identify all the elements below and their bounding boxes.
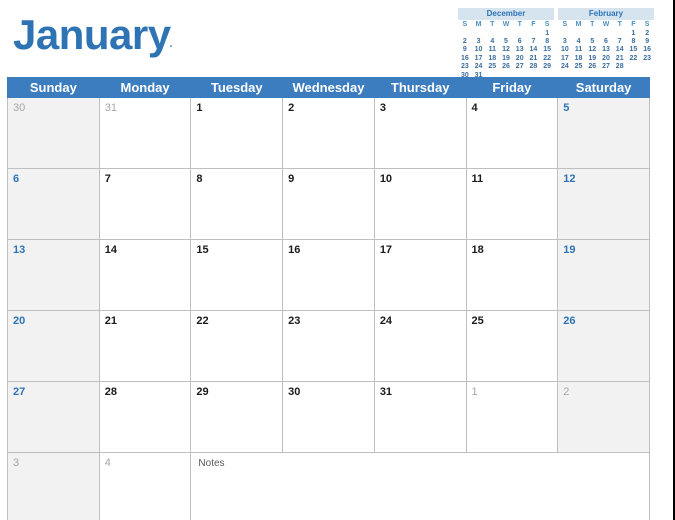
- mini-day-8[interactable]: 8: [540, 38, 554, 46]
- mini-day-10[interactable]: 10: [558, 46, 572, 54]
- day-number: 13: [8, 240, 99, 256]
- day-cell[interactable]: 2: [283, 98, 375, 169]
- mini-day-22[interactable]: 22: [540, 55, 554, 63]
- day-number: 25: [467, 311, 558, 327]
- mini-day-6[interactable]: 6: [599, 38, 613, 46]
- mini-day-14[interactable]: 14: [527, 46, 541, 54]
- day-number: 22: [191, 311, 282, 327]
- mini-day-27[interactable]: 27: [599, 63, 613, 71]
- day-cell[interactable]: 3: [374, 98, 466, 169]
- day-cell[interactable]: 7: [99, 169, 191, 240]
- mini-dow-3: W: [499, 21, 513, 30]
- day-number: 3: [375, 98, 466, 114]
- day-cell[interactable]: 31: [99, 98, 191, 169]
- mini-day-28[interactable]: 28: [613, 63, 627, 71]
- day-cell[interactable]: 31: [374, 382, 466, 453]
- mini-day-3[interactable]: 3: [558, 38, 572, 46]
- mini-day-20[interactable]: 20: [513, 55, 527, 63]
- mini-day-1[interactable]: 1: [627, 30, 641, 38]
- mini-day-12[interactable]: 12: [585, 46, 599, 54]
- mini-day-4[interactable]: 4: [572, 38, 586, 46]
- mini-day-21[interactable]: 21: [527, 55, 541, 63]
- mini-day-24[interactable]: 24: [472, 63, 486, 71]
- mini-day-8[interactable]: 8: [627, 38, 641, 46]
- day-cell[interactable]: 15: [191, 240, 283, 311]
- day-cell[interactable]: 6: [8, 169, 100, 240]
- week-row: 272829303112: [8, 382, 650, 453]
- mini-calendar-next-month: February SMTWTFS .....123456789101112131…: [558, 8, 654, 80]
- day-number: 2: [558, 382, 649, 398]
- day-cell[interactable]: 8: [191, 169, 283, 240]
- mini-day-15[interactable]: 15: [627, 46, 641, 54]
- week-row: 6789101112: [8, 169, 650, 240]
- month-grid-body: 3031123456789101112131415161718192021222…: [8, 98, 650, 520]
- day-number: 15: [191, 240, 282, 256]
- day-cell[interactable]: 26: [558, 311, 650, 382]
- mini-calendar-prev-month: December SMTWTFS ......12345678910111213…: [458, 8, 554, 80]
- mini-day-2[interactable]: 2: [458, 38, 472, 46]
- day-number: 30: [283, 382, 374, 398]
- mini-day-25[interactable]: 25: [572, 63, 586, 71]
- day-number: 26: [558, 311, 649, 327]
- day-cell[interactable]: 10: [374, 169, 466, 240]
- calendar-page: January December SMTWTFS ......123456789…: [0, 0, 675, 520]
- day-number: 11: [467, 169, 558, 185]
- mini-calendar-day-grid: ......1234567891011121314151617181920212…: [458, 30, 554, 80]
- weekday-header-wednesday: Wednesday: [283, 78, 375, 98]
- mini-day-13[interactable]: 13: [599, 46, 613, 54]
- day-cell[interactable]: 27: [8, 382, 100, 453]
- day-cell[interactable]: 2: [558, 382, 650, 453]
- day-cell[interactable]: 11: [466, 169, 558, 240]
- day-cell[interactable]: 30: [8, 98, 100, 169]
- mini-dow-5: F: [627, 21, 641, 30]
- day-cell[interactable]: 1: [191, 98, 283, 169]
- mini-day-14[interactable]: 14: [613, 46, 627, 54]
- day-cell[interactable]: 23: [283, 311, 375, 382]
- mini-calendar-dow-row: SMTWTFS: [458, 20, 554, 30]
- day-number: 3: [8, 453, 99, 469]
- mini-calendars: December SMTWTFS ......12345678910111213…: [458, 8, 654, 80]
- day-number: 28: [100, 382, 191, 398]
- day-cell[interactable]: 30: [283, 382, 375, 453]
- day-number: 6: [8, 169, 99, 185]
- weekday-header-monday: Monday: [99, 78, 191, 98]
- day-number: 18: [467, 240, 558, 256]
- day-number: 2: [283, 98, 374, 114]
- mini-day-22[interactable]: 22: [627, 55, 641, 63]
- day-number: 9: [283, 169, 374, 185]
- notes-label: Notes: [191, 453, 649, 470]
- mini-dow-1: M: [572, 21, 586, 30]
- day-number: 16: [283, 240, 374, 256]
- mini-day-10[interactable]: 10: [472, 46, 486, 54]
- mini-day-11[interactable]: 11: [485, 46, 499, 54]
- day-cell[interactable]: 13: [8, 240, 100, 311]
- day-number: 30: [8, 98, 99, 114]
- month-grid: SundayMondayTuesdayWednesdayThursdayFrid…: [7, 77, 650, 520]
- day-number: 21: [100, 311, 191, 327]
- mini-dow-4: T: [513, 21, 527, 30]
- week-row: 20212223242526: [8, 311, 650, 382]
- mini-day-17[interactable]: 17: [472, 55, 486, 63]
- mini-day-26[interactable]: 26: [585, 63, 599, 71]
- day-number: 27: [8, 382, 99, 398]
- mini-day-25[interactable]: 25: [485, 63, 499, 71]
- day-cell[interactable]: 25: [466, 311, 558, 382]
- mini-day-12[interactable]: 12: [499, 46, 513, 54]
- day-number: 7: [100, 169, 191, 185]
- mini-day-23[interactable]: 23: [458, 63, 472, 71]
- mini-day-9[interactable]: 9: [458, 46, 472, 54]
- day-cell[interactable]: 18: [466, 240, 558, 311]
- day-cell[interactable]: 9: [283, 169, 375, 240]
- mini-day-18[interactable]: 18: [485, 55, 499, 63]
- mini-calendar-title: December: [458, 8, 554, 20]
- weekday-header-thursday: Thursday: [374, 78, 466, 98]
- mini-dow-1: M: [472, 21, 486, 30]
- day-cell[interactable]: 17: [374, 240, 466, 311]
- day-cell[interactable]: 20: [8, 311, 100, 382]
- day-cell[interactable]: 29: [191, 382, 283, 453]
- day-number: 4: [467, 98, 558, 114]
- mini-day-16[interactable]: 16: [458, 55, 472, 63]
- mini-day-20[interactable]: 20: [599, 55, 613, 63]
- page-title: January: [13, 12, 171, 58]
- mini-day-18[interactable]: 18: [572, 55, 586, 63]
- mini-day-7[interactable]: 7: [613, 38, 627, 46]
- day-number: 10: [375, 169, 466, 185]
- mini-day-13[interactable]: 13: [513, 46, 527, 54]
- day-cell[interactable]: 16: [283, 240, 375, 311]
- mini-day-15[interactable]: 15: [540, 46, 554, 54]
- day-number: 8: [191, 169, 282, 185]
- mini-day-2[interactable]: 2: [640, 30, 654, 38]
- day-number: 24: [375, 311, 466, 327]
- day-cell[interactable]: 14: [99, 240, 191, 311]
- day-number: 19: [558, 240, 649, 256]
- mini-day-24[interactable]: 24: [558, 63, 572, 71]
- week-row: 13141516171819: [8, 240, 650, 311]
- mini-dow-2: T: [485, 21, 499, 30]
- day-cell[interactable]: 19: [558, 240, 650, 311]
- weekday-header-saturday: Saturday: [558, 78, 650, 98]
- day-cell[interactable]: 1: [466, 382, 558, 453]
- mini-day-9[interactable]: 9: [640, 38, 654, 46]
- day-number: 29: [191, 382, 282, 398]
- day-number: 1: [191, 98, 282, 114]
- day-number: 20: [8, 311, 99, 327]
- mini-day-17[interactable]: 17: [558, 55, 572, 63]
- day-number: 1: [467, 382, 558, 398]
- day-cell[interactable]: 3: [8, 453, 100, 520]
- day-number: 23: [283, 311, 374, 327]
- mini-dow-4: T: [613, 21, 627, 30]
- mini-calendar-day-grid: .....12345678910111213141516171819202122…: [558, 30, 654, 72]
- day-cell[interactable]: 28: [99, 382, 191, 453]
- notes-row: 34Notes: [8, 453, 650, 520]
- mini-day-5[interactable]: 5: [499, 38, 513, 46]
- day-cell[interactable]: 22: [191, 311, 283, 382]
- mini-day-19[interactable]: 19: [585, 55, 599, 63]
- mini-day-5[interactable]: 5: [585, 38, 599, 46]
- mini-day-6[interactable]: 6: [513, 38, 527, 46]
- day-cell[interactable]: 4: [466, 98, 558, 169]
- mini-day-11[interactable]: 11: [572, 46, 586, 54]
- mini-day-7[interactable]: 7: [527, 38, 541, 46]
- mini-day-28[interactable]: 28: [527, 63, 541, 71]
- day-number: 4: [100, 453, 191, 469]
- mini-dow-5: F: [527, 21, 541, 30]
- mini-calendar-title: February: [558, 8, 654, 20]
- mini-day-29[interactable]: 29: [540, 63, 554, 71]
- day-number: 14: [100, 240, 191, 256]
- mini-dow-6: S: [540, 21, 554, 30]
- weekday-header-friday: Friday: [466, 78, 558, 98]
- day-number: 12: [558, 169, 649, 185]
- mini-dow-0: S: [558, 21, 572, 30]
- mini-day-26[interactable]: 26: [499, 63, 513, 71]
- weekday-header-row: SundayMondayTuesdayWednesdayThursdayFrid…: [8, 78, 650, 98]
- mini-dow-6: S: [640, 21, 654, 30]
- mini-dow-3: W: [599, 21, 613, 30]
- mini-day-23[interactable]: 23: [640, 55, 654, 63]
- mini-dow-0: S: [458, 21, 472, 30]
- mini-calendar-dow-row: SMTWTFS: [558, 20, 654, 30]
- day-number: 31: [100, 98, 191, 114]
- day-number: 5: [558, 98, 649, 114]
- notes-cell[interactable]: Notes: [191, 453, 650, 520]
- weekday-header-sunday: Sunday: [8, 78, 100, 98]
- weekday-header-tuesday: Tuesday: [191, 78, 283, 98]
- week-row: 303112345: [8, 98, 650, 169]
- mini-day-19[interactable]: 19: [499, 55, 513, 63]
- mini-day-27[interactable]: 27: [513, 63, 527, 71]
- day-cell[interactable]: 21: [99, 311, 191, 382]
- day-number: 17: [375, 240, 466, 256]
- title-dot-artifact: [170, 45, 172, 47]
- mini-day-4[interactable]: 4: [485, 38, 499, 46]
- day-cell[interactable]: 5: [558, 98, 650, 169]
- mini-day-1[interactable]: 1: [540, 30, 554, 38]
- mini-day-16[interactable]: 16: [640, 46, 654, 54]
- day-cell[interactable]: 4: [99, 453, 191, 520]
- day-cell[interactable]: 12: [558, 169, 650, 240]
- mini-day-21[interactable]: 21: [613, 55, 627, 63]
- mini-dow-2: T: [585, 21, 599, 30]
- day-number: 31: [375, 382, 466, 398]
- mini-day-3[interactable]: 3: [472, 38, 486, 46]
- day-cell[interactable]: 24: [374, 311, 466, 382]
